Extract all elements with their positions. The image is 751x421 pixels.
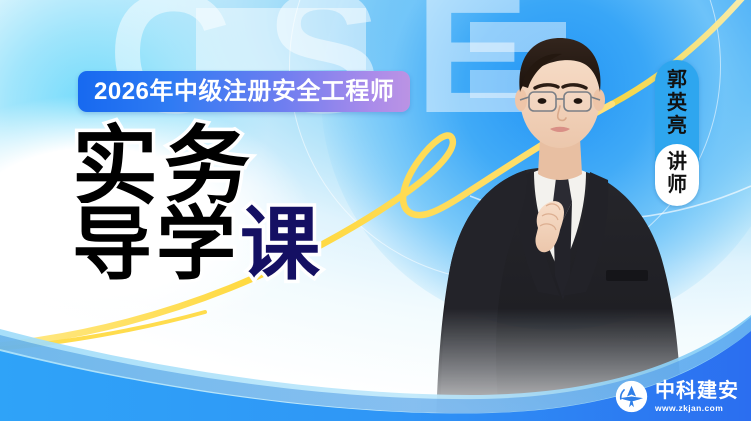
instructor-role-char-2: 师 — [667, 174, 687, 197]
brand-url: www.zkjan.com — [655, 404, 739, 413]
exam-title-pill: 2026年中级注册安全工程师 — [78, 71, 410, 112]
headline-line-2: 导学课 — [72, 205, 324, 285]
instructor-badge: 郭 英 亮 讲 师 — [655, 60, 699, 206]
star-circle-icon — [615, 380, 648, 413]
course-poster: CSE — [0, 0, 751, 421]
instructor-role: 讲 师 — [655, 144, 699, 206]
brand-logo[interactable]: 中科建安 www.zkjan.com — [615, 380, 739, 413]
headline-line-2-main: 导学 — [72, 200, 240, 289]
instructor-name-char-1: 郭 — [667, 69, 687, 92]
headline-line-1: 实务 — [72, 125, 324, 209]
instructor-name: 郭 英 亮 — [667, 60, 687, 144]
instructor-role-char-1: 讲 — [667, 151, 687, 174]
brand-text-block: 中科建安 www.zkjan.com — [655, 381, 739, 413]
instructor-name-char-3: 亮 — [667, 115, 687, 138]
exam-title-label: 2026年中级注册安全工程师 — [94, 80, 394, 104]
instructor-name-char-2: 英 — [667, 92, 687, 115]
headline-line-2-accent: 课 — [240, 200, 324, 289]
headline-block: 实务 导学课 — [72, 125, 324, 285]
brand-name: 中科建安 — [655, 381, 739, 401]
